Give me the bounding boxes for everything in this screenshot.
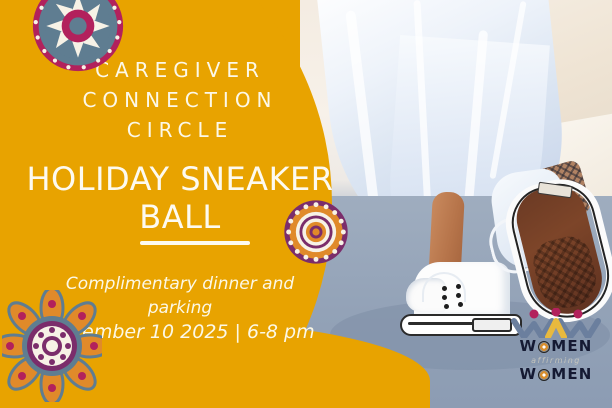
waw-monogram-icon <box>508 308 604 338</box>
flower-mandala-bottom-left-icon <box>2 290 102 402</box>
sneaker-eyelet <box>444 304 449 309</box>
logo-mandala-o-icon <box>538 341 550 353</box>
kicker-line-3: CIRCLE <box>20 115 340 145</box>
logo-name-top: W MEN <box>508 338 604 355</box>
logo-bottom-men: MEN <box>551 366 592 383</box>
sneaker-eyelet <box>442 286 447 291</box>
sneaker-heel-patch <box>472 318 512 332</box>
waw-logo: W MEN affirming W MEN <box>508 308 604 390</box>
sneaker-eyelet <box>458 302 463 307</box>
logo-top-men: MEN <box>551 338 592 355</box>
event-flyer: CAREGIVER CONNECTION CIRCLE HOLIDAY SNEA… <box>0 0 612 408</box>
headline-line-1: HOLIDAY SNEAKER <box>8 160 352 198</box>
divider-rule <box>140 241 250 245</box>
logo-name-bottom: W MEN <box>508 366 604 383</box>
white-high-top-sneaker <box>398 262 526 344</box>
kicker-line-2: CONNECTION <box>20 85 340 115</box>
mandala-top-left-icon <box>30 0 126 74</box>
sneaker-eyelet <box>442 295 447 300</box>
logo-mandala-o-icon <box>538 369 550 381</box>
logo-top-w: W <box>519 338 537 355</box>
sneaker-eyelet <box>456 293 461 298</box>
mandala-middle-icon <box>280 196 352 268</box>
sneaker-eyelet <box>456 284 461 289</box>
logo-tagline: affirming <box>508 355 604 366</box>
logo-bottom-w: W <box>519 366 537 383</box>
